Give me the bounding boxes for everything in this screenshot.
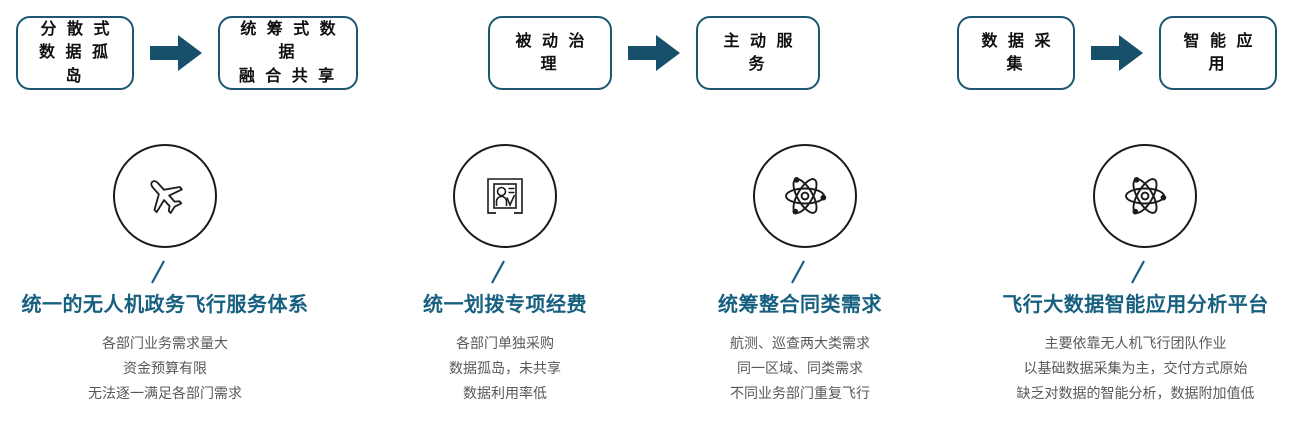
column-line: 数据利用率低 <box>370 381 640 406</box>
column-line: 数据孤岛，未共享 <box>370 356 640 381</box>
slash-divider-1 <box>148 260 168 284</box>
transition-from-pill-1[interactable]: 分 散 式 数 据 孤 岛 <box>16 16 134 90</box>
transition-to-pill-2[interactable]: 主 动 服 务 <box>696 16 820 90</box>
arrow-right-icon <box>628 33 680 73</box>
column-title: 飞行大数据智能应用分析平台 <box>965 288 1306 317</box>
transition-group-3: 数 据 采 集 智 能 应 用 <box>957 16 1277 90</box>
transition-to-pill-1[interactable]: 统 筹 式 数 据 融 合 共 享 <box>218 16 358 90</box>
atom-icon <box>1122 173 1168 219</box>
column-line: 主要依靠无人机飞行团队作业 <box>965 331 1306 356</box>
slash-divider-2 <box>488 260 508 284</box>
slash-divider-4 <box>1128 260 1148 284</box>
icon-circle-1 <box>113 144 217 248</box>
column-line: 航测、巡查两大类需求 <box>665 331 935 356</box>
icon-circle-2 <box>453 144 557 248</box>
column-line: 同一区域、同类需求 <box>665 356 935 381</box>
arrow-right-icon <box>150 33 202 73</box>
column-2: 统一划拨专项经费 各部门单独采购 数据孤岛，未共享 数据利用率低 <box>370 288 640 406</box>
column-title: 统一划拨专项经费 <box>370 288 640 317</box>
icon-circle-4 <box>1093 144 1197 248</box>
column-line: 缺乏对数据的智能分析，数据附加值低 <box>965 381 1306 406</box>
column-line: 不同业务部门重复飞行 <box>665 381 935 406</box>
airplane-icon <box>141 172 189 220</box>
column-line: 无法逐一满足各部门需求 <box>0 381 330 406</box>
transition-group-2: 被 动 治 理 主 动 服 务 <box>488 16 820 90</box>
column-3: 统筹整合同类需求 航测、巡查两大类需求 同一区域、同类需求 不同业务部门重复飞行 <box>665 288 935 406</box>
column-line: 各部门业务需求量大 <box>0 331 330 356</box>
column-title: 统筹整合同类需求 <box>665 288 935 317</box>
icon-circle-3 <box>753 144 857 248</box>
column-title: 统一的无人机政务飞行服务体系 <box>0 288 330 317</box>
transition-group-1: 分 散 式 数 据 孤 岛 统 筹 式 数 据 融 合 共 享 <box>16 16 358 90</box>
id-card-icon <box>482 173 528 219</box>
column-line: 资金预算有限 <box>0 356 330 381</box>
arrow-right-icon <box>1091 33 1143 73</box>
transition-from-pill-3[interactable]: 数 据 采 集 <box>957 16 1075 90</box>
column-line: 各部门单独采购 <box>370 331 640 356</box>
atom-icon <box>782 173 828 219</box>
column-line: 以基础数据采集为主，交付方式原始 <box>965 356 1306 381</box>
transition-row: 分 散 式 数 据 孤 岛 统 筹 式 数 据 融 合 共 享 被 动 治 理 … <box>0 0 1306 110</box>
transition-from-pill-2[interactable]: 被 动 治 理 <box>488 16 612 90</box>
slash-divider-3 <box>788 260 808 284</box>
column-1: 统一的无人机政务飞行服务体系 各部门业务需求量大 资金预算有限 无法逐一满足各部… <box>0 288 330 406</box>
column-4: 飞行大数据智能应用分析平台 主要依靠无人机飞行团队作业 以基础数据采集为主，交付… <box>965 288 1306 406</box>
transition-to-pill-3[interactable]: 智 能 应 用 <box>1159 16 1277 90</box>
